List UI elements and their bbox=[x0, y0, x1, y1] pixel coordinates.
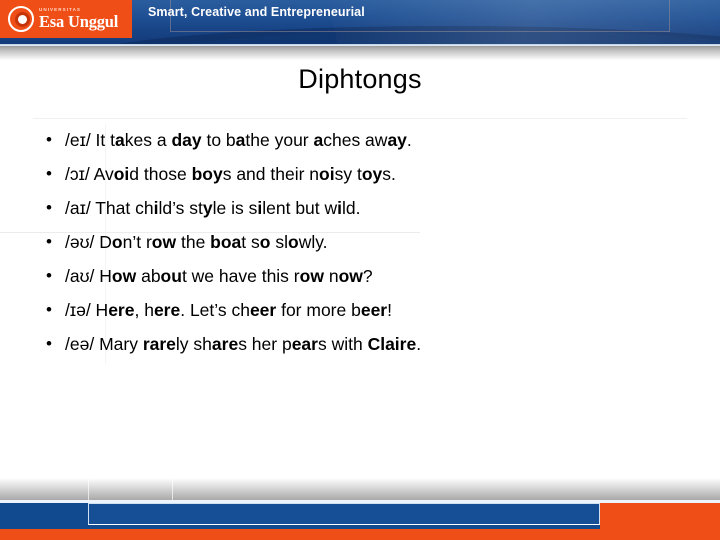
bullet-marker-icon: • bbox=[33, 193, 65, 223]
highlighted-sound: ear bbox=[292, 334, 318, 354]
highlighted-sound: are bbox=[212, 334, 238, 354]
university-logo: Universitas Esa Unggul bbox=[0, 0, 132, 38]
sentence-text: for more b bbox=[276, 300, 361, 320]
list-item-text: /eə/ Mary rarely shares her pears with C… bbox=[65, 329, 687, 359]
highlighted-sound: ow bbox=[339, 266, 363, 286]
header-grey-band bbox=[0, 46, 720, 60]
highlighted-sound: boa bbox=[210, 232, 241, 252]
highlighted-sound: oi bbox=[114, 164, 130, 184]
sentence-text: . bbox=[416, 334, 421, 354]
list-item: •/ɪə/ Here, here. Let’s cheer for more b… bbox=[33, 295, 687, 329]
sentence-text: n’t r bbox=[123, 232, 152, 252]
highlighted-sound: a bbox=[115, 130, 125, 150]
sentence-text: . bbox=[407, 130, 412, 150]
sentence-text: ld’s st bbox=[158, 198, 202, 218]
sentence-text: H bbox=[91, 300, 109, 320]
highlighted-sound: y bbox=[203, 198, 213, 218]
footer-grey-seam-left bbox=[88, 478, 89, 500]
sentence-text: le is s bbox=[213, 198, 258, 218]
highlighted-sound: boy bbox=[192, 164, 223, 184]
sentence-text: sl bbox=[270, 232, 288, 252]
ipa-symbol: /ɪə/ bbox=[65, 300, 91, 320]
slide-title: Diphtongs bbox=[0, 64, 720, 95]
list-item-text: /əʊ/ Don’t row the boat so slowly. bbox=[65, 227, 687, 257]
footer-inner-outline bbox=[88, 503, 600, 525]
ipa-symbol: /aʊ/ bbox=[65, 266, 94, 286]
header-tagline: Smart, Creative and Entrepreneurial bbox=[148, 5, 365, 19]
sentence-text: s with bbox=[318, 334, 368, 354]
sentence-text: s and their n bbox=[223, 164, 319, 184]
sentence-text: lent but w bbox=[262, 198, 337, 218]
list-item: •/ɔɪ/ Avoid those boys and their noisy t… bbox=[33, 159, 687, 193]
sentence-text: ! bbox=[387, 300, 392, 320]
header-swoosh-decoration bbox=[70, 26, 720, 46]
sentence-text: kes a bbox=[125, 130, 172, 150]
highlighted-sound: o bbox=[288, 232, 299, 252]
list-item-text: /aʊ/ How about we have this row now? bbox=[65, 261, 687, 291]
ipa-symbol: /əʊ/ bbox=[65, 232, 94, 252]
footer-orange-bottom-bar bbox=[0, 529, 720, 540]
highlighted-sound: ow bbox=[300, 266, 324, 286]
sentence-text: the your bbox=[245, 130, 313, 150]
ipa-symbol: /eɪ/ bbox=[65, 130, 91, 150]
sentence-text: ld. bbox=[342, 198, 360, 218]
highlighted-sound: oi bbox=[319, 164, 335, 184]
highlighted-sound: ere bbox=[108, 300, 134, 320]
highlighted-sound: o bbox=[112, 232, 123, 252]
list-item: •/aʊ/ How about we have this row now? bbox=[33, 261, 687, 295]
sentence-text: s her p bbox=[238, 334, 292, 354]
list-item-text: /eɪ/ It takes a day to bathe your aches … bbox=[65, 125, 687, 155]
sentence-text: the bbox=[176, 232, 210, 252]
list-item-text: /aɪ/ That child’s style is silent but wi… bbox=[65, 193, 687, 223]
sentence-text: Mary bbox=[94, 334, 143, 354]
circular-swirl-logo-icon bbox=[8, 6, 34, 32]
sentence-text: d those bbox=[129, 164, 191, 184]
highlighted-sound: eer bbox=[361, 300, 387, 320]
highlighted-sound: o bbox=[260, 232, 271, 252]
bullet-marker-icon: • bbox=[33, 261, 65, 291]
ipa-symbol: /ɔɪ/ bbox=[65, 164, 90, 184]
sentence-text: It t bbox=[91, 130, 115, 150]
list-item: •/əʊ/ Don’t row the boat so slowly. bbox=[33, 227, 687, 261]
sentence-text: wly. bbox=[299, 232, 328, 252]
highlighted-sound: Claire bbox=[368, 334, 417, 354]
sentence-text: to b bbox=[202, 130, 236, 150]
bullet-marker-icon: • bbox=[33, 125, 65, 155]
sentence-text: . Let’s ch bbox=[180, 300, 250, 320]
header-sheen-decoration bbox=[323, 0, 720, 46]
ipa-symbol: /aɪ/ bbox=[65, 198, 91, 218]
bullet-marker-icon: • bbox=[33, 159, 65, 189]
sentence-text: ches aw bbox=[323, 130, 387, 150]
sentence-text: n bbox=[324, 266, 339, 286]
sentence-text: ab bbox=[136, 266, 160, 286]
bullet-marker-icon: • bbox=[33, 329, 65, 359]
bullet-list: •/eɪ/ It takes a day to bathe your aches… bbox=[33, 118, 687, 363]
highlighted-sound: day bbox=[171, 130, 201, 150]
list-item-text: /ɔɪ/ Avoid those boys and their noisy to… bbox=[65, 159, 687, 189]
highlighted-sound: rare bbox=[143, 334, 176, 354]
logo-institution-name: Esa Unggul bbox=[39, 14, 118, 31]
highlighted-sound: ow bbox=[152, 232, 176, 252]
list-item: •/eə/ Mary rarely shares her pears with … bbox=[33, 329, 687, 363]
list-item: •/eɪ/ It takes a day to bathe your aches… bbox=[33, 125, 687, 159]
footer-grey-seam-right bbox=[172, 478, 173, 500]
sentence-text: ? bbox=[363, 266, 373, 286]
sentence-text: t s bbox=[241, 232, 259, 252]
sentence-text: Av bbox=[90, 164, 114, 184]
list-item: •/aɪ/ That child’s style is silent but w… bbox=[33, 193, 687, 227]
sentence-text: That ch bbox=[91, 198, 154, 218]
highlighted-sound: ou bbox=[161, 266, 182, 286]
sentence-text: D bbox=[94, 232, 112, 252]
sentence-text: t we have this r bbox=[182, 266, 300, 286]
sentence-text: , h bbox=[134, 300, 153, 320]
bullet-marker-icon: • bbox=[33, 295, 65, 325]
highlighted-sound: oy bbox=[362, 164, 382, 184]
highlighted-sound: a bbox=[314, 130, 324, 150]
sentence-text: sy t bbox=[335, 164, 362, 184]
highlighted-sound: ow bbox=[112, 266, 136, 286]
highlighted-sound: a bbox=[236, 130, 246, 150]
sentence-text: s. bbox=[382, 164, 396, 184]
list-item-text: /ɪə/ Here, here. Let’s cheer for more be… bbox=[65, 295, 687, 325]
footer-grey-band bbox=[0, 478, 720, 500]
bullet-marker-icon: • bbox=[33, 227, 65, 257]
highlighted-sound: ere bbox=[154, 300, 180, 320]
sentence-text: ly sh bbox=[176, 334, 212, 354]
logo-wordmark: Universitas Esa Unggul bbox=[39, 8, 118, 30]
highlighted-sound: eer bbox=[250, 300, 276, 320]
highlighted-sound: ay bbox=[387, 130, 406, 150]
presentation-slide: Universitas Esa Unggul Smart, Creative a… bbox=[0, 0, 720, 540]
ipa-symbol: /eə/ bbox=[65, 334, 94, 354]
sentence-text: H bbox=[94, 266, 112, 286]
